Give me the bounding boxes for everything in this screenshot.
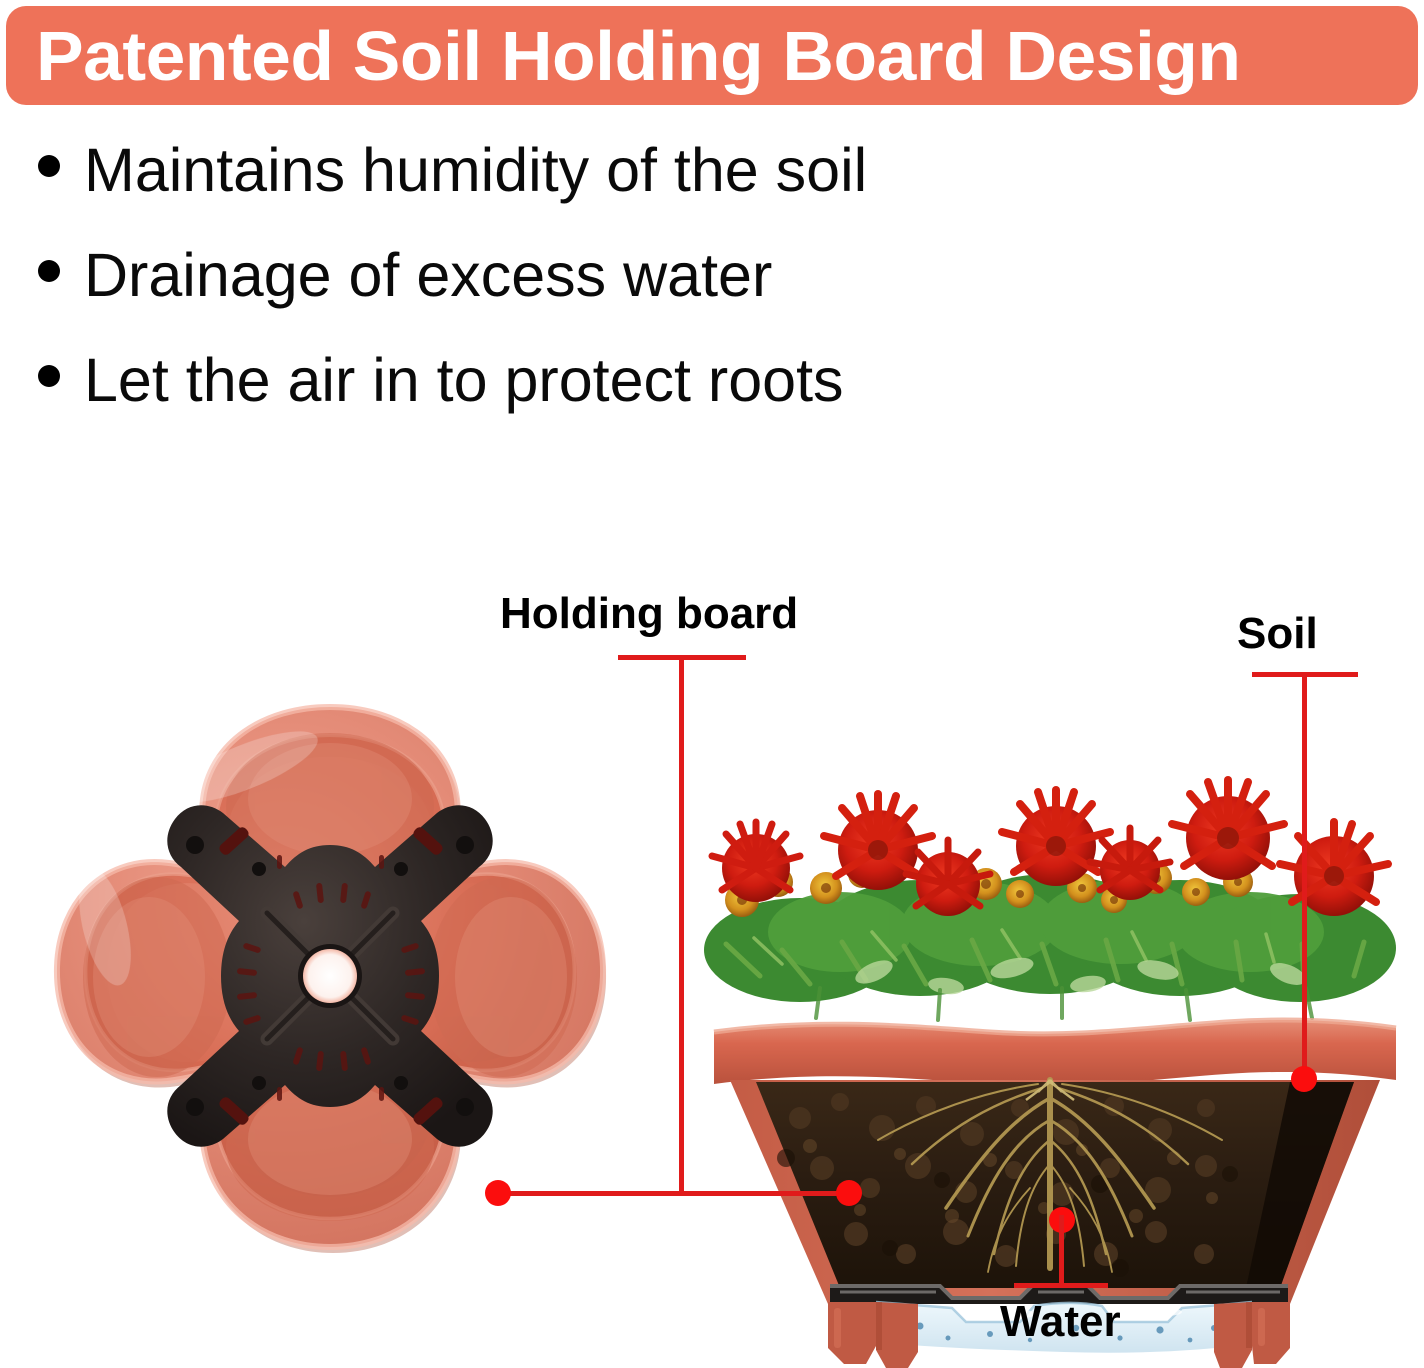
holding-board-marker-dot-right bbox=[836, 1180, 862, 1206]
feature-text: Maintains humidity of the soil bbox=[84, 140, 867, 201]
water-leader-crossbar bbox=[1014, 1283, 1108, 1288]
callout-label-soil: Soil bbox=[1237, 612, 1318, 656]
list-item: Let the air in to protect roots bbox=[38, 350, 1088, 455]
list-item: Drainage of excess water bbox=[38, 245, 1088, 350]
page-title: Patented Soil Holding Board Design bbox=[36, 21, 1240, 91]
feature-text: Let the air in to protect roots bbox=[84, 350, 844, 411]
holding-board-leader-branch bbox=[497, 1191, 849, 1196]
feature-text: Drainage of excess water bbox=[84, 245, 772, 306]
planter-top-view-image bbox=[45, 695, 615, 1305]
header-banner: Patented Soil Holding Board Design bbox=[6, 6, 1418, 105]
bullet-dot-icon bbox=[38, 365, 60, 387]
bullet-dot-icon bbox=[38, 260, 60, 282]
list-item: Maintains humidity of the soil bbox=[38, 140, 1088, 245]
holding-board-leader-stem bbox=[679, 655, 684, 1193]
soil-leader-stem bbox=[1302, 672, 1307, 1072]
feature-list: Maintains humidity of the soil Drainage … bbox=[38, 140, 1088, 455]
callout-label-holding-board: Holding board bbox=[500, 592, 798, 636]
water-leader-stem bbox=[1059, 1215, 1064, 1287]
soil-marker-dot bbox=[1291, 1066, 1317, 1092]
product-diagram: Holding board Soil Water bbox=[0, 560, 1424, 1368]
foliage bbox=[704, 874, 1396, 1020]
callout-label-water: Water bbox=[1000, 1300, 1121, 1344]
bullet-dot-icon bbox=[38, 155, 60, 177]
holding-board-marker-dot-left bbox=[485, 1180, 511, 1206]
